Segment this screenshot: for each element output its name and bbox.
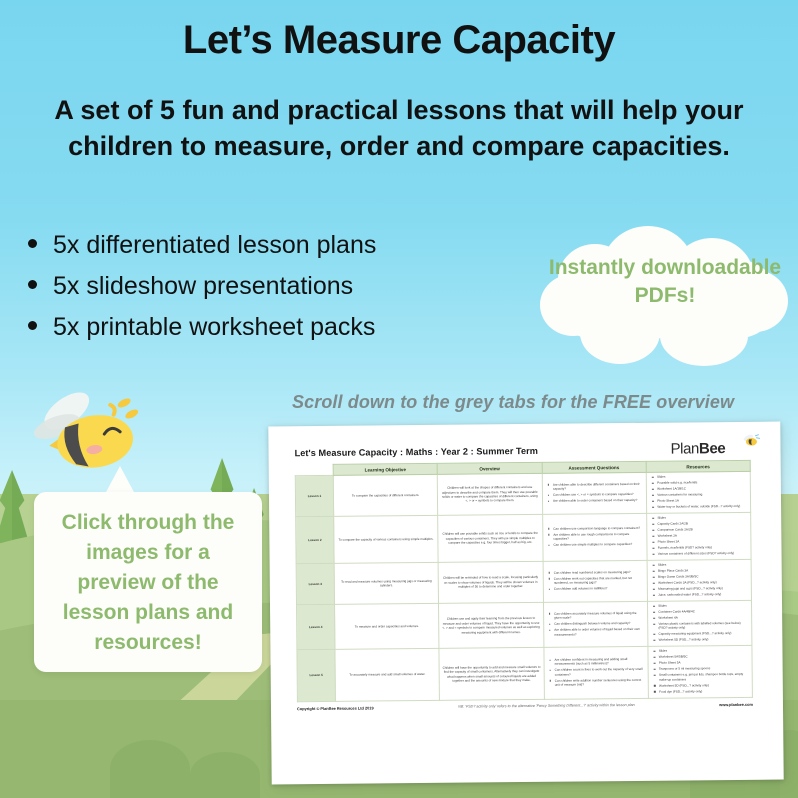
list-item: Can children distinguish between volume … [550, 621, 644, 626]
list-item: Can children work out capacities that ar… [550, 576, 644, 586]
cloud-badge: Instantly downloadable PDFs! [540, 222, 790, 372]
footer-copyright: Copyright © PlanBee Resources Ltd 2019 [297, 705, 374, 711]
document-title: Let's Measure Capacity : Maths : Year 2 … [295, 446, 539, 458]
list-item: Slides [653, 474, 747, 479]
cell-assessment-questions: Are children confident in measuring and … [543, 647, 648, 699]
list-item: Worksheet Cards 3A (FSD...? activity onl… [654, 580, 748, 585]
list-item: Are children able to order containers ba… [549, 498, 643, 503]
list-item: Can children use <, > or = symbols to co… [549, 492, 643, 497]
cell-learning-objective: To compare the capacities of different c… [333, 474, 438, 516]
cell-overview: Children will look at the shapes of diff… [438, 473, 543, 515]
footer-note: NB: 'FSD? activity only' refers to the a… [458, 703, 635, 709]
list-item: 5x differentiated lesson plans [28, 228, 518, 262]
table-row: Lesson 1To compare the capacities of dif… [295, 471, 750, 516]
list-item: Are children confident in measuring and … [551, 657, 645, 667]
bullet-dot-icon [28, 321, 37, 330]
list-item-label: 5x differentiated lesson plans [53, 228, 376, 262]
list-item: Are children able to order volumes of li… [550, 627, 644, 637]
cell-resources: SlidesBingo Place Cards 3ABingo Game Car… [647, 559, 752, 601]
planbee-logo: PlanBee [670, 440, 754, 461]
col-blank [295, 464, 333, 475]
list-item: Photo Sheet 2A [654, 539, 748, 544]
list-item: Slides [653, 515, 747, 520]
list-item: Teaspoons or 5 ml measuring spoons [655, 666, 749, 671]
cell-assessment-questions: Are children able to describe different … [542, 472, 647, 514]
list-item: Funnels, rice/lentils (FSD? activity onl… [654, 545, 748, 550]
list-item: Photo Sheet 1A [653, 498, 747, 503]
grass-tuft [190, 752, 260, 798]
list-item: Bingo Game Cards 3A/3B/3C [654, 574, 748, 579]
table-row: Lesson 2To compare the capacity of vario… [296, 512, 751, 563]
list-item: Can children read numbered scales on mea… [550, 570, 644, 575]
list-item: 5x slideshow presentations [28, 269, 518, 303]
preview-callout[interactable]: Click through the images for a preview o… [34, 492, 262, 672]
list-item-label: 5x slideshow presentations [53, 269, 353, 303]
subheadline: A set of 5 fun and practical lessons tha… [40, 92, 758, 164]
cell-lesson: Lesson 3 [296, 563, 334, 604]
bullet-dot-icon [28, 239, 37, 248]
list-item: Can children accurately measure volumes … [550, 611, 644, 621]
grass-tuft [110, 740, 190, 798]
list-item: Can children add volumes in millilitres? [550, 586, 644, 591]
cloud-badge-label: Instantly downloadable PDFs! [540, 254, 790, 310]
speech-arrow-icon [105, 466, 135, 494]
list-item: Slides [655, 648, 749, 653]
page-title: Let’s Measure Capacity [0, 16, 798, 64]
list-item: Are children able to describe different … [549, 482, 643, 492]
cell-lesson: Lesson 5 [297, 650, 335, 702]
list-item: Various containers of different sizes (F… [654, 551, 748, 556]
cell-resources: SlidesWorksheet 5A/5B/5CPhoto Sheet 5ATe… [648, 646, 753, 698]
list-item: Slides [654, 603, 748, 608]
cell-lesson: Lesson 2 [296, 516, 334, 563]
list-item: Worksheet 4A [654, 615, 748, 620]
cell-resources: SlidesPourable solid e.g. rice/lentilsWo… [646, 471, 751, 513]
list-item: Capacity measuring equipment (FSD...? ac… [655, 631, 749, 636]
list-item: Measuring jugs and cups (FSD...? activit… [654, 586, 748, 591]
list-item: Slides [654, 562, 748, 567]
cell-assessment-questions: Can children read numbered scales on mea… [543, 560, 648, 602]
promo-graphic: Let’s Measure Capacity A set of 5 fun an… [0, 0, 798, 798]
list-item: Food dye (FSD...? activity only) [655, 689, 749, 694]
cell-lesson: Lesson 1 [295, 475, 333, 516]
cell-learning-objective: To measure and order capacities and volu… [335, 603, 440, 649]
list-item: Are children able to use rough compariso… [549, 532, 643, 542]
list-item: Small containers e.g. jam jar lids, sham… [655, 672, 749, 682]
headline-text: Let’s Measure Capacity [0, 16, 798, 64]
list-item: Can children count in fives to work out … [551, 667, 645, 677]
table-body: Lesson 1To compare the capacities of dif… [295, 471, 752, 701]
list-item: Bingo Place Cards 3A [654, 568, 748, 573]
table-row: Lesson 3To read and measure volumes usin… [296, 559, 751, 604]
list-item: Can children use comparison language to … [549, 526, 643, 531]
cell-overview: Children use and apply their learning fr… [439, 602, 544, 648]
list-item: Container Cards 4A/4B/4C [654, 609, 748, 614]
cell-assessment-questions: Can children use comparison language to … [542, 513, 647, 561]
preview-callout-label: Click through the images for a preview o… [46, 508, 250, 658]
list-item: Pourable solid e.g. rice/lentils [653, 480, 747, 485]
list-item: Worksheet 5D (FSD...? activity only) [655, 637, 749, 642]
lesson-overview-document[interactable]: Let's Measure Capacity : Maths : Year 2 … [268, 422, 783, 785]
list-item: Photo Sheet 5A [655, 660, 749, 665]
document-footer: Copyright © PlanBee Resources Ltd 2019 N… [297, 702, 753, 711]
cell-learning-objective: To read and measure volumes using measur… [334, 562, 439, 604]
lesson-table: Learning Objective Overview Assessment Q… [295, 460, 753, 702]
list-item: Worksheet 2A [654, 533, 748, 538]
footer-website[interactable]: www.planbee.com [719, 702, 753, 707]
cell-assessment-questions: Can children accurately measure volumes … [543, 601, 648, 647]
bee-icon [742, 434, 760, 448]
cell-learning-objective: To compare the capacity of various conta… [334, 515, 439, 563]
logo-part-1: Plan [670, 440, 699, 457]
scroll-hint: Scroll down to the grey tabs for the FRE… [292, 392, 792, 413]
list-item: Various containers for measuring [653, 492, 747, 497]
table-row: Lesson 4To measure and order capacities … [297, 600, 752, 650]
list-item: Worksheet 1A/1B/1C [653, 486, 747, 491]
cell-lesson: Lesson 4 [297, 604, 335, 650]
list-item: Worksheet 5D (FSD...? activity only) [655, 683, 749, 688]
list-item: Various plastic containers with labelled… [654, 621, 748, 631]
list-item: Juice, carbonated water (FSD...? activit… [654, 592, 748, 597]
list-item: Can children use simple multiples to com… [549, 542, 643, 547]
table-row: Lesson 5To accurately measure and add sm… [297, 646, 752, 702]
list-item: Water tray or buckets of water, outside … [653, 504, 747, 509]
cell-resources: SlidesContainer Cards 4A/4B/4CWorksheet … [647, 600, 752, 646]
cell-overview: Children will have the opportunity to ad… [439, 648, 544, 700]
list-item: 5x printable worksheet packs [28, 310, 518, 344]
logo-part-2: Bee [699, 440, 725, 457]
cell-learning-objective: To accurately measure and add small volu… [335, 649, 440, 701]
list-item: Comparison Cards 2A/2B [654, 527, 748, 532]
cell-resources: SlidesCapacity Cards 2A/2BComparison Car… [646, 512, 751, 560]
cell-overview: Children will be reminded of how to read… [438, 561, 543, 603]
bullet-dot-icon [28, 280, 37, 289]
list-item: Worksheet 5A/5B/5C [655, 654, 749, 659]
feature-list: 5x differentiated lesson plans 5x slides… [28, 228, 518, 351]
cell-overview: Children will use pourable solids such a… [438, 514, 543, 562]
list-item-label: 5x printable worksheet packs [53, 310, 375, 344]
list-item: Capacity Cards 2A/2B [653, 521, 747, 526]
list-item: Can children write addition number sente… [551, 678, 645, 688]
